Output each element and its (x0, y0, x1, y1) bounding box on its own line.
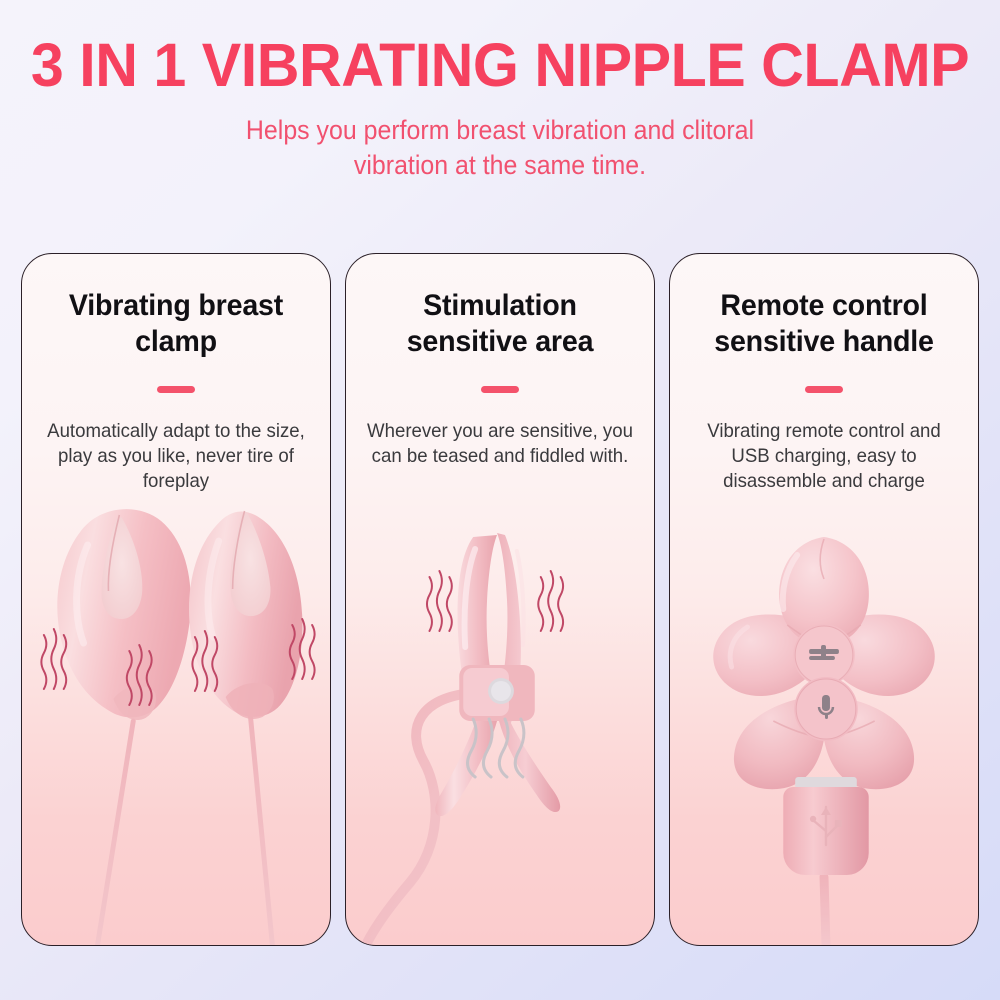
feature-cards-row: Vibrating breast clamp Automatically ada… (21, 253, 979, 946)
illustration-flower-remote (670, 515, 978, 945)
illustration-two-clamps (22, 485, 330, 945)
feature-card-remote-control-sensitive-handle: Remote control sensitive handle Vibratin… (669, 253, 979, 946)
card-header: Vibrating breast clamp (22, 254, 330, 393)
page-title: 3 IN 1 VIBRATING NIPPLE CLAMP (15, 0, 985, 96)
card-title: Vibrating breast clamp (42, 288, 310, 360)
page-subtitle: Helps you perform breast vibration and c… (30, 96, 970, 183)
clamp-device-left (57, 509, 190, 945)
card-description: Automatically adapt to the size, play as… (42, 419, 311, 495)
feature-card-vibrating-breast-clamp: Vibrating breast clamp Automatically ada… (21, 253, 331, 946)
clamp-device-right (189, 511, 302, 945)
accent-divider (805, 386, 843, 393)
accent-divider (157, 386, 195, 393)
infographic-page: 3 IN 1 VIBRATING NIPPLE CLAMP Helps you … (0, 0, 1000, 1000)
illustration-spring-clamp (346, 515, 654, 945)
subtitle-line-2: vibration at the same time. (354, 150, 646, 180)
card-description: Wherever you are sensitive, you can be t… (366, 419, 635, 469)
subtitle-line-1: Helps you perform breast vibration and c… (246, 115, 754, 145)
feature-card-stimulation-sensitive-area: Stimulation sensitive area Wherever you … (345, 253, 655, 946)
accent-divider (481, 386, 519, 393)
card-title: Remote control sensitive handle (690, 288, 958, 360)
card-title: Stimulation sensitive area (366, 288, 634, 360)
vibration-marks (427, 571, 563, 631)
header: 3 IN 1 VIBRATING NIPPLE CLAMP Helps you … (0, 0, 1000, 183)
card-description: Vibrating remote control and USB chargin… (690, 419, 959, 495)
card-header: Remote control sensitive handle (670, 254, 978, 393)
card-header: Stimulation sensitive area (346, 254, 654, 393)
